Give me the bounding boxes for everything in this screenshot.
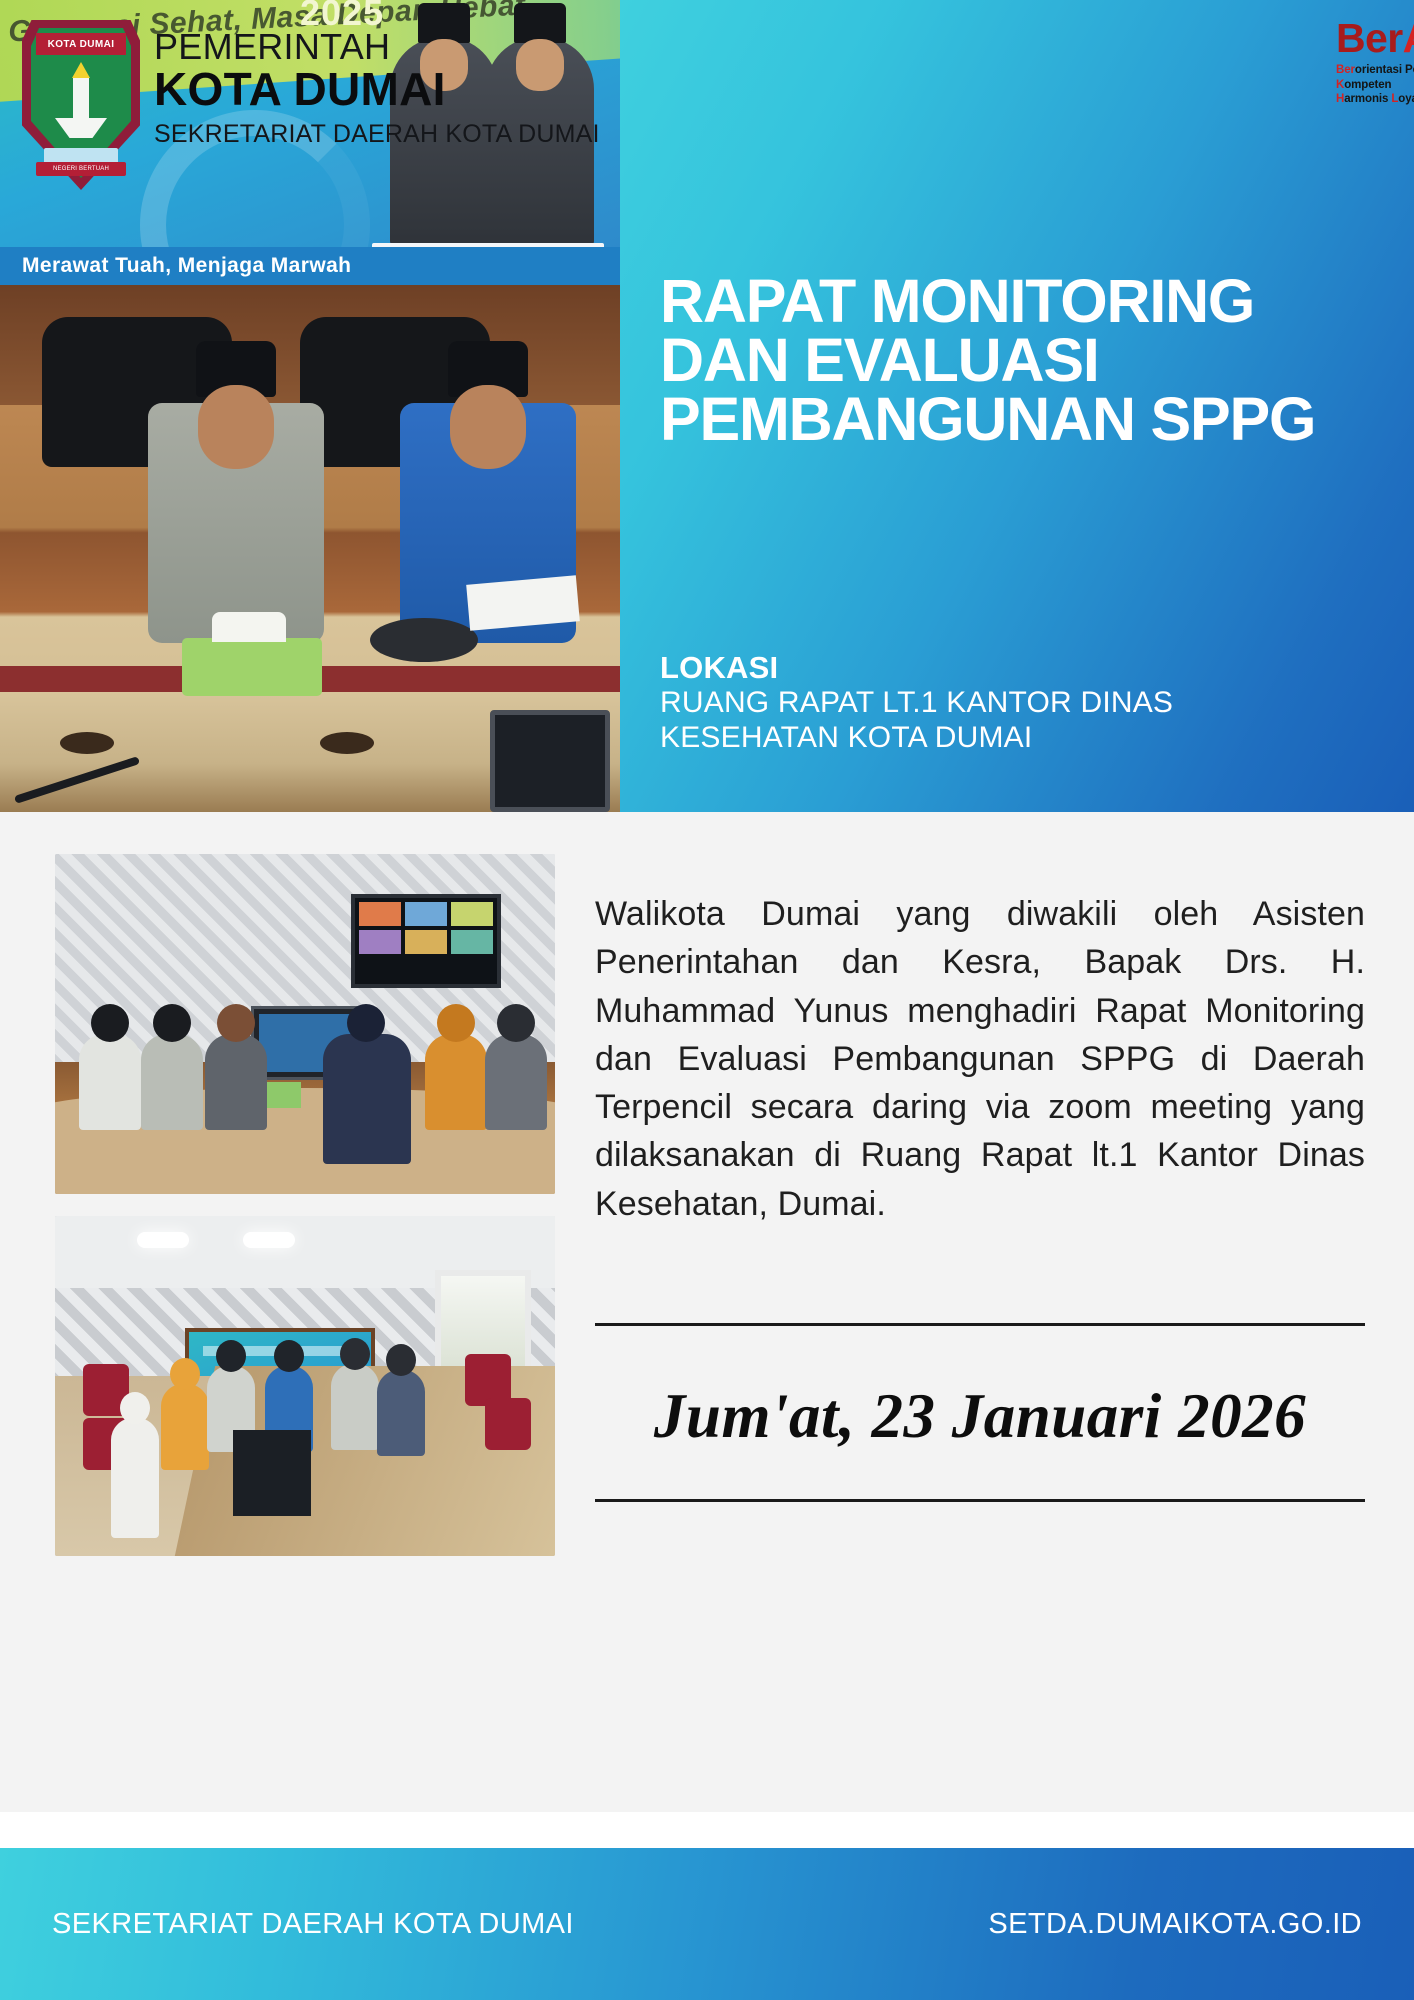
gov-line-sekretariat: SEKRETARIAT DAERAH KOTA DUMAI bbox=[154, 120, 600, 149]
hero-photo-meeting: Generasi Sehat, Masa Depan Hebat 2025 FA… bbox=[0, 0, 620, 812]
berakhlak-wordmark: BerAKHLAK bbox=[1336, 18, 1414, 59]
page-footer: SEKRETARIAT DAERAH KOTA DUMAI SETDA.DUMA… bbox=[0, 1848, 1414, 2000]
official-figure-left bbox=[148, 403, 324, 643]
tissue-box bbox=[182, 638, 322, 696]
berakhlak-values-line2: Harmonis Loyal Adaptif Kolaboratif bbox=[1336, 92, 1414, 107]
location-block: LOKASI RUANG RAPAT LT.1 KANTOR DINAS KES… bbox=[660, 650, 1360, 756]
zoom-screen-icon bbox=[351, 894, 501, 988]
desk-grommet-1 bbox=[60, 732, 114, 754]
meeting-room-scene bbox=[0, 285, 620, 812]
banner-bottom-text: Merawat Tuah, Menjaga Marwah bbox=[0, 247, 620, 285]
article-section: Walikota Dumai yang diwakili oleh Asiste… bbox=[0, 812, 1414, 1812]
text-column: Walikota Dumai yang diwakili oleh Asiste… bbox=[595, 890, 1365, 1502]
gov-line-pemerintah: PEMERINTAH bbox=[154, 28, 600, 65]
crest-tower-icon bbox=[73, 78, 89, 122]
monitor bbox=[490, 710, 610, 812]
location-value: RUANG RAPAT LT.1 KANTOR DINAS KESEHATAN … bbox=[660, 686, 1360, 756]
berakhlak-logo: BerAKHLAK Berorientasi Pelayanan Akuntab… bbox=[1336, 18, 1414, 107]
page-title: RAPAT MONITORING DAN EVALUASI PEMBANGUNA… bbox=[660, 272, 1380, 449]
conference-speaker bbox=[370, 618, 478, 662]
footer-organization: SEKRETARIAT DAERAH KOTA DUMAI bbox=[52, 1908, 574, 1941]
hero-section: Generasi Sehat, Masa Depan Hebat 2025 FA… bbox=[0, 0, 1414, 812]
paper-document bbox=[466, 575, 580, 630]
location-label: LOKASI bbox=[660, 650, 1360, 686]
kota-dumai-crest-icon: KOTA DUMAI NEGERI BERTUAH bbox=[22, 20, 140, 190]
logo-row: BerAKHLAK Berorientasi Pelayanan Akuntab… bbox=[1336, 18, 1414, 107]
government-lockup: KOTA DUMAI NEGERI BERTUAH PEMERINTAH KOT… bbox=[22, 20, 600, 190]
crest-star-icon bbox=[72, 62, 90, 78]
footer-website: SETDA.DUMAIKOTA.GO.ID bbox=[988, 1908, 1362, 1941]
photo-column bbox=[55, 854, 555, 1556]
gov-line-kota-dumai: KOTA DUMAI bbox=[154, 65, 600, 113]
divider-bottom bbox=[595, 1499, 1365, 1502]
photo-zoom-meeting bbox=[55, 854, 555, 1194]
photo-wide-meeting-room bbox=[55, 1216, 555, 1556]
desk-grommet-2 bbox=[320, 732, 374, 754]
berakhlak-values-line1: Berorientasi Pelayanan Akuntabel Kompete… bbox=[1336, 63, 1414, 92]
crest-band-label: KOTA DUMAI bbox=[48, 39, 115, 50]
hero-info-panel: BerAKHLAK Berorientasi Pelayanan Akuntab… bbox=[620, 0, 1414, 812]
article-body: Walikota Dumai yang diwakili oleh Asiste… bbox=[595, 890, 1365, 1228]
event-date: Jum'at, 23 Januari 2026 bbox=[595, 1326, 1365, 1499]
crest-motto-label: NEGERI BERTUAH bbox=[36, 162, 126, 176]
